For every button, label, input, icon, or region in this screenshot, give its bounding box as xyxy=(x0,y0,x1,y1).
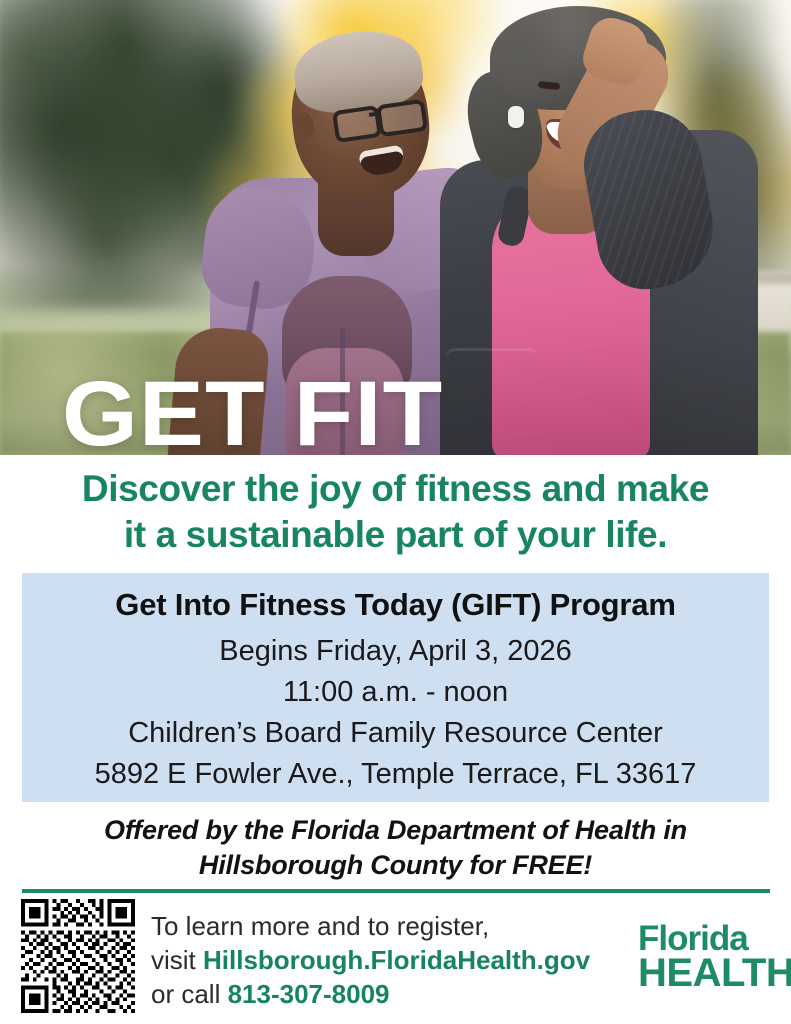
offered-by-line-2: Hillsborough County for FREE! xyxy=(0,848,791,883)
logo-line-health: HEALTH xyxy=(638,953,768,993)
footer-visit-label: visit xyxy=(151,945,203,975)
footer-contact-text: To learn more and to register, visit Hil… xyxy=(151,909,621,1011)
footer-website-link[interactable]: Hillsborough.FloridaHealth.gov xyxy=(203,945,590,975)
footer-call-label: or call xyxy=(151,979,228,1009)
flyer-page: GET FIT Discover the joy of fitness and … xyxy=(0,0,791,1024)
offered-by-note: Offered by the Florida Department of Hea… xyxy=(0,813,791,883)
footer-divider xyxy=(22,889,770,893)
footer-visit-line: visit Hillsborough.FloridaHealth.gov xyxy=(151,943,621,977)
woman-left-glasses-lens-right xyxy=(376,99,428,137)
program-info-box: Get Into Fitness Today (GIFT) Program Be… xyxy=(22,573,769,802)
program-date: Begins Friday, April 3, 2026 xyxy=(22,631,769,672)
woman-left-glasses-lens-left xyxy=(332,105,382,143)
footer-call-line: or call 813-307-8009 xyxy=(151,977,621,1011)
program-title: Get Into Fitness Today (GIFT) Program xyxy=(22,587,769,623)
florida-health-logo: Florida HEALTH xyxy=(638,921,768,993)
program-time: 11:00 a.m. - noon xyxy=(22,672,769,713)
tagline: Discover the joy of fitness and make it … xyxy=(0,466,791,558)
program-venue: Children’s Board Family Resource Center xyxy=(22,713,769,754)
offered-by-line-1: Offered by the Florida Department of Hea… xyxy=(0,813,791,848)
program-address: 5892 E Fowler Ave., Temple Terrace, FL 3… xyxy=(22,754,769,795)
qr-code-icon[interactable] xyxy=(21,899,135,1013)
headline-get-fit: GET FIT xyxy=(62,368,443,455)
footer-phone-number[interactable]: 813-307-8009 xyxy=(228,979,390,1009)
woman-right-earbud xyxy=(508,106,524,128)
qr-code-svg xyxy=(21,899,135,1013)
tagline-line-2: it a sustainable part of your life. xyxy=(0,512,791,558)
tagline-line-1: Discover the joy of fitness and make xyxy=(0,466,791,512)
program-details: Begins Friday, April 3, 2026 11:00 a.m. … xyxy=(22,631,769,795)
hero-photo: GET FIT xyxy=(0,0,791,455)
footer-learn-more: To learn more and to register, xyxy=(151,909,621,943)
